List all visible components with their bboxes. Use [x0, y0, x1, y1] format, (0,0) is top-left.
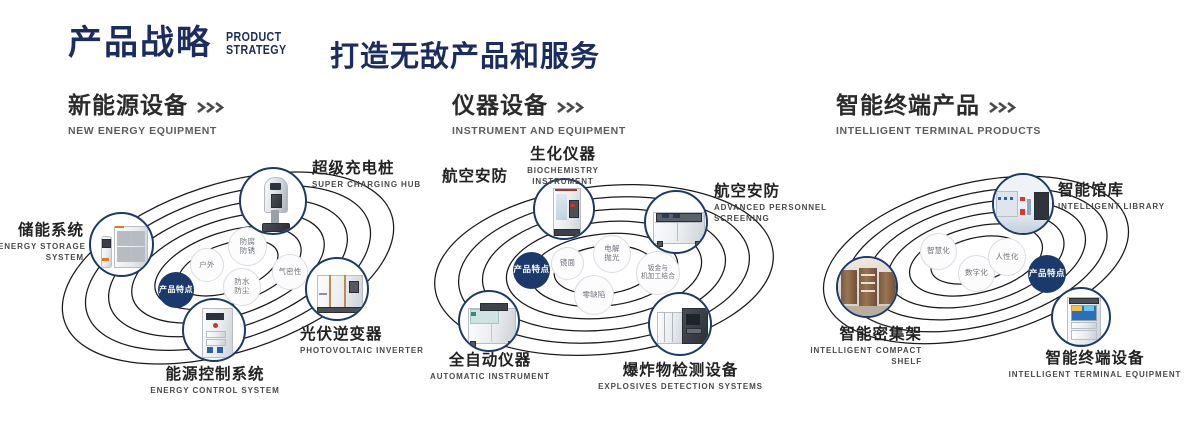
caption-intelligent-library: 智能馆库 INTELLIGENT LIBRARY: [1058, 182, 1198, 211]
node-photovoltaic-inverter[interactable]: [305, 257, 369, 321]
node-explosives-detection-systems[interactable]: [648, 292, 712, 356]
core-badge-product-features: 产品特点: [513, 252, 550, 289]
diagram-new-energy: 户外 防腐 防锈 气密性 防水 防尘 产特 产品特点: [30, 150, 430, 400]
node-biochemistry-instrument[interactable]: [533, 178, 595, 240]
feature-bubble: 零缺陷: [574, 275, 614, 315]
node-intelligent-terminal-equipment[interactable]: [1051, 287, 1111, 347]
section-heading-en: INSTRUMENT AND EQUIPMENT: [452, 125, 626, 137]
page-subtitle: 打造无敌产品和服务: [330, 33, 600, 75]
node-energy-storage-system[interactable]: [89, 212, 154, 277]
feature-bubble: 智慧化: [920, 233, 957, 270]
node-energy-control-system[interactable]: [182, 298, 246, 362]
explosives-detector-icon: [650, 294, 710, 354]
node-automatic-instrument[interactable]: [458, 290, 520, 352]
page-title: 产品战略 PRODUCT STRATEGY: [68, 26, 300, 60]
terminal-kiosk-icon: [1053, 289, 1109, 345]
screening-machine-icon: [646, 192, 706, 252]
node-intelligent-library[interactable]: [992, 173, 1054, 235]
section-heading-instrument: 仪器设备 INSTRUMENT AND EQUIPMENT: [452, 95, 626, 137]
caption-automatic-instrument: 全自动仪器 AUTOMATIC INSTRUMENT: [390, 352, 590, 381]
control-cabinet-icon: [184, 300, 244, 360]
caption-biochemistry-instrument: 生化仪器 BIOCHEMISTRY INSTRUMENT: [478, 146, 648, 186]
title-cn: 产品战略: [68, 26, 212, 60]
title-en-line1: PRODUCT: [226, 30, 287, 44]
section-heading-cn: 新能源设备: [68, 95, 188, 118]
section-heading-cn: 仪器设备: [452, 95, 548, 118]
compact-shelf-icon: [838, 258, 896, 316]
feature-bubble: 电解 抛光: [593, 235, 631, 273]
chevrons-svg: [989, 102, 1019, 113]
energy-storage-cabinet-icon: [91, 214, 152, 275]
feature-bubble: 户外: [190, 248, 224, 282]
chevron-right-icon: [557, 102, 587, 113]
caption-intelligent-compact-shelf: 智能密集架 INTELLIGENT COMPACT SHELF: [722, 326, 922, 366]
title-en: PRODUCT STRATEGY: [226, 30, 287, 60]
feature-bubble: 气密性: [272, 254, 308, 290]
charging-pile-icon: [241, 169, 305, 233]
node-super-charging-hub[interactable]: [239, 167, 307, 235]
section-heading-intelligent-terminal: 智能终端产品 INTELLIGENT TERMINAL PRODUCTS: [836, 95, 1041, 137]
caption-explosives-detection-systems: 爆炸物检测设备 EXPLOSIVES DETECTION SYSTEMS: [558, 362, 803, 391]
chevrons-svg: [197, 102, 227, 113]
chevrons-svg: [557, 102, 587, 113]
caption-intelligent-terminal-equipment: 智能终端设备 INTELLIGENT TERMINAL EQUIPMENT: [990, 350, 1200, 379]
poster-canvas: 产品战略 PRODUCT STRATEGY 打造无敌产品和服务 新能源设备 NE…: [0, 0, 1200, 422]
automatic-instrument-icon: [460, 292, 518, 350]
diagram-intelligent-terminal: 智慧化 数字化 人性化 产品特点: [800, 150, 1200, 400]
biochemistry-analyzer-icon: [535, 180, 593, 238]
section-heading-en: INTELLIGENT TERMINAL PRODUCTS: [836, 125, 1041, 137]
feature-bubble: 镜面: [551, 247, 584, 280]
node-advanced-personnel-screening[interactable]: [644, 190, 708, 254]
section-heading-cn: 智能终端产品: [836, 95, 980, 118]
node-intelligent-compact-shelf[interactable]: [836, 256, 898, 318]
feature-bubble: 人性化: [988, 238, 1026, 276]
caption-energy-control-system: 能源控制系统 ENERGY CONTROL SYSTEM: [80, 366, 350, 395]
chevron-right-icon: [197, 102, 227, 113]
section-heading-new-energy: 新能源设备 NEW ENERGY EQUIPMENT: [68, 95, 227, 137]
feature-bubble: 钣金与 机加工结合: [636, 251, 680, 295]
core-badge-product-features: 产品特点: [1028, 255, 1066, 293]
pv-inverter-icon: [307, 259, 367, 319]
title-en-line2: STRATEGY: [226, 43, 287, 57]
smart-library-icon: [994, 175, 1052, 233]
chevron-right-icon: [989, 102, 1019, 113]
caption-energy-storage-system: 储能系统 ENERGY STORAGE SYSTEM: [0, 222, 84, 262]
section-heading-en: NEW ENERGY EQUIPMENT: [68, 125, 227, 137]
